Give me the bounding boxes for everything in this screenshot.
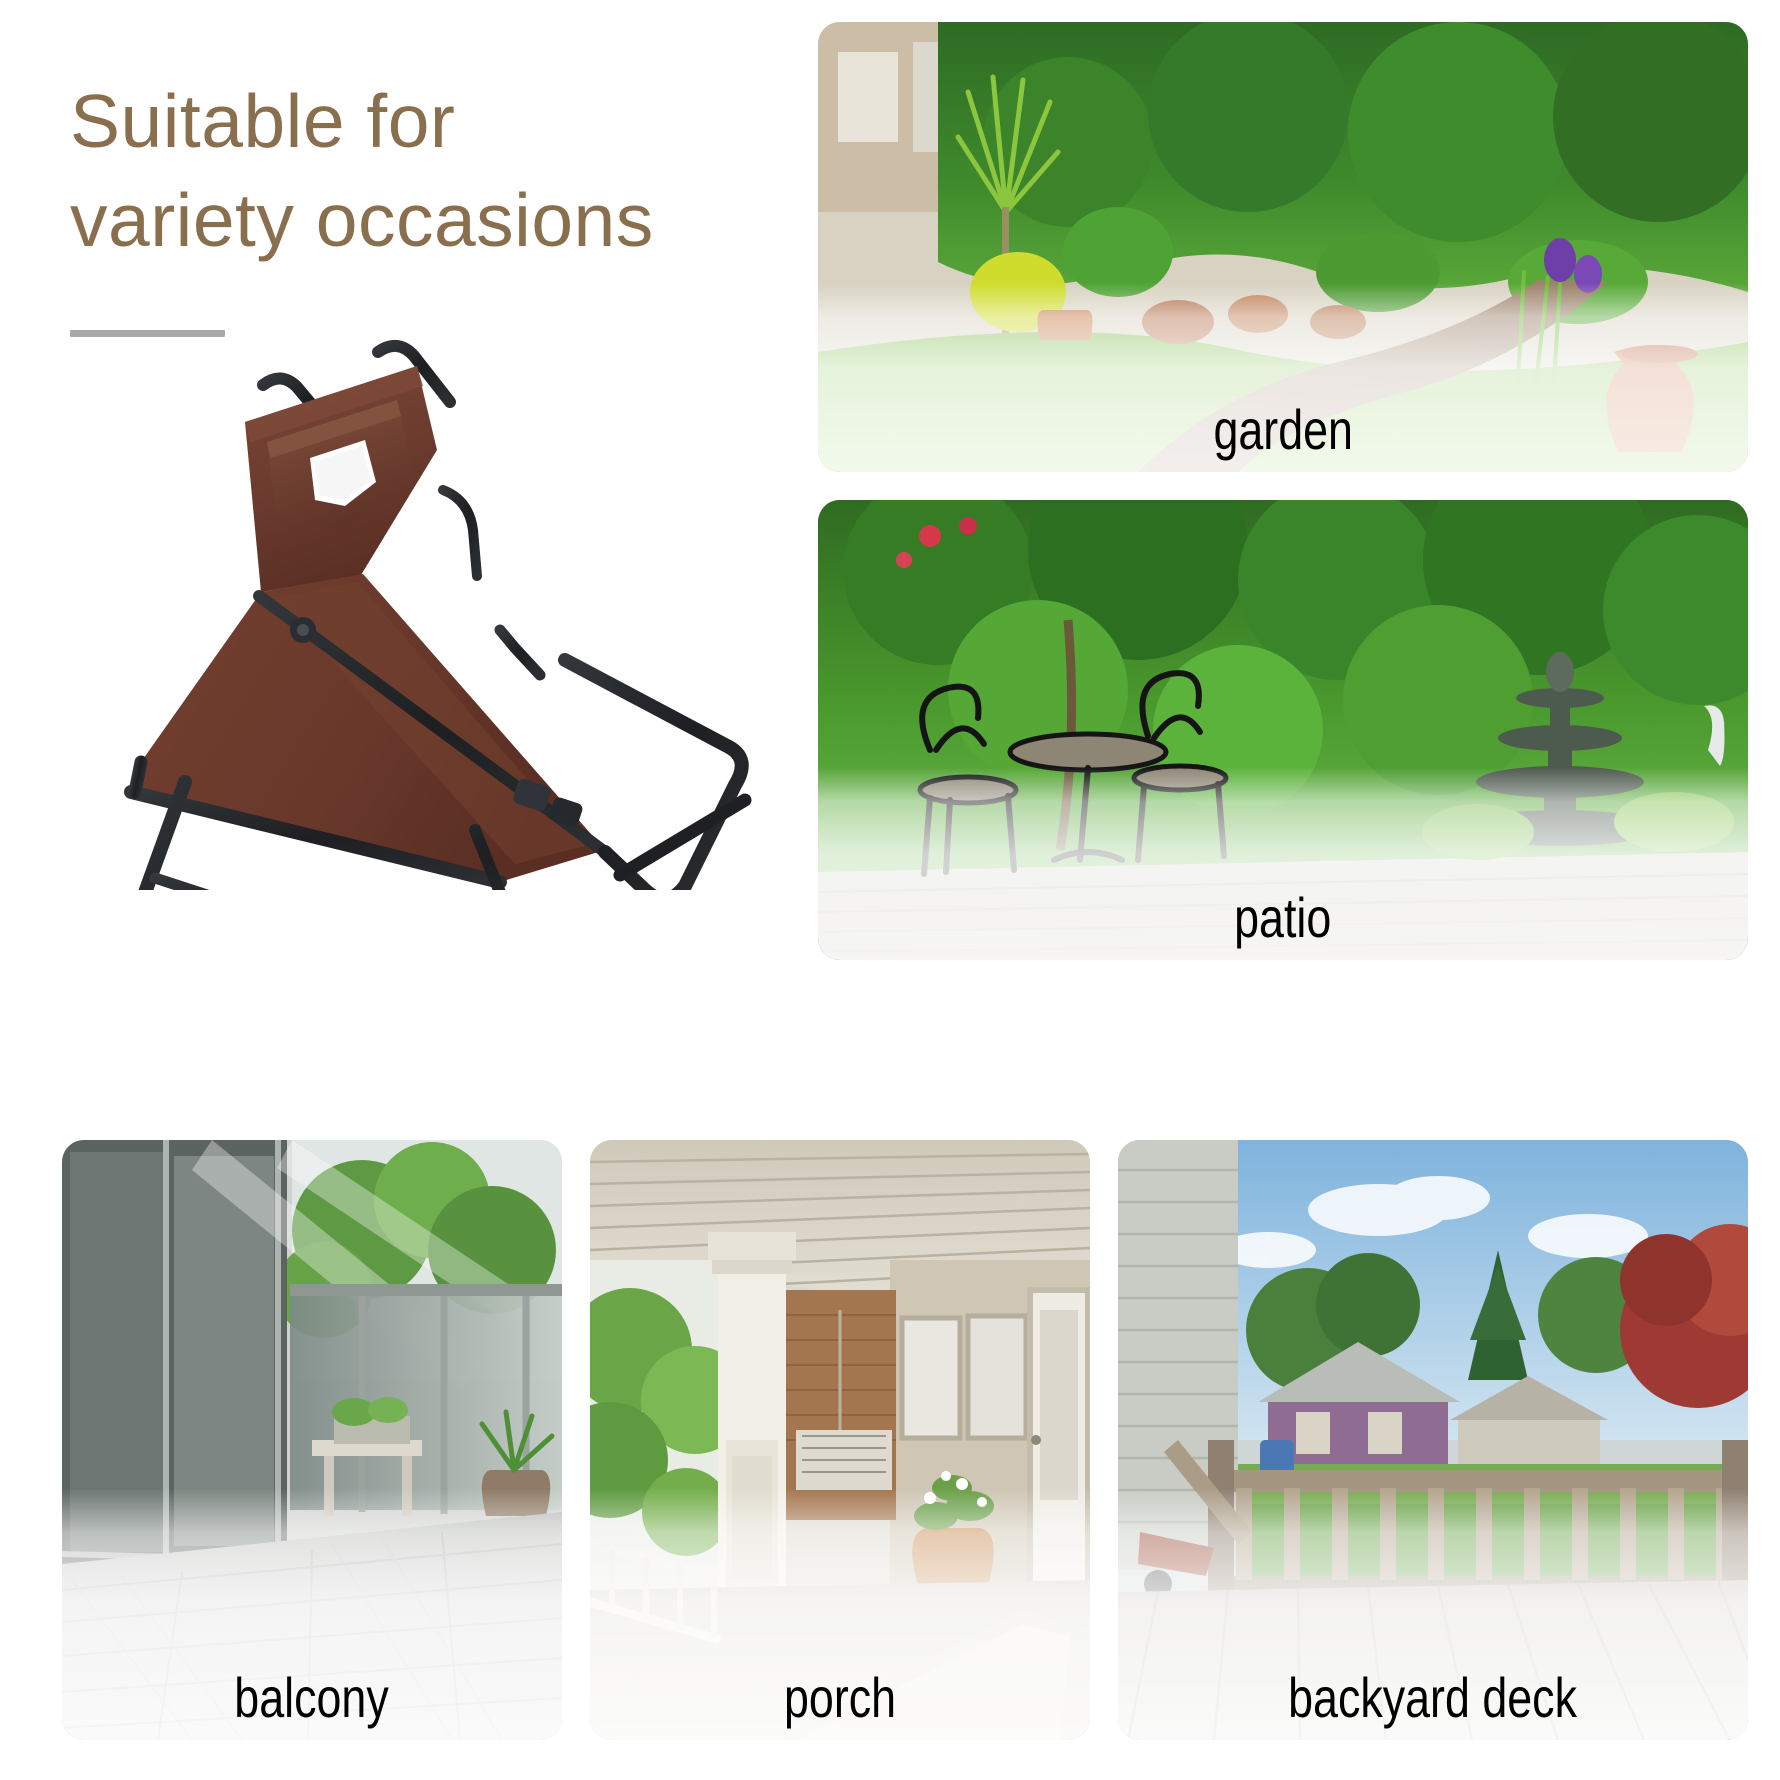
occasion-card-backyard-deck: backyard deck xyxy=(1118,1140,1748,1740)
infographic-canvas: Suitable for variety occasions xyxy=(0,0,1780,1780)
backyard-deck-photo xyxy=(1118,1140,1748,1740)
patio-photo xyxy=(818,500,1748,960)
page-title-line-1: Suitable for xyxy=(70,72,770,171)
page-title-line-2: variety occasions xyxy=(70,171,770,270)
porch-photo xyxy=(590,1140,1090,1740)
product-image-sun-lounger xyxy=(45,330,785,890)
occasion-card-balcony: balcony xyxy=(62,1140,562,1740)
balcony-photo xyxy=(62,1140,562,1740)
occasion-card-porch: porch xyxy=(590,1140,1090,1740)
occasion-card-patio: patio xyxy=(818,500,1748,960)
page-title: Suitable for variety occasions xyxy=(70,72,770,270)
garden-photo xyxy=(818,22,1748,472)
occasion-card-garden: garden xyxy=(818,22,1748,472)
